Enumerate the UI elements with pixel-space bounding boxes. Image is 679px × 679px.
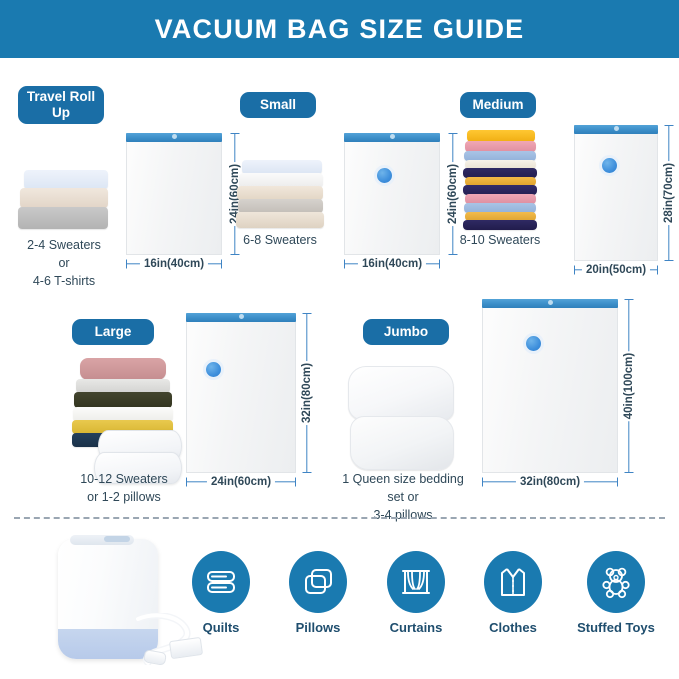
size-badge-small: Small	[240, 92, 316, 118]
stack-layer	[237, 186, 323, 200]
dimension-width-jumbo: 32in(80cm)	[482, 476, 618, 488]
use-case-stuffed-toys[interactable]: Stuffed Toys	[568, 551, 664, 635]
bedding-roll-jumbo	[348, 366, 452, 470]
dimension-width-label: 32in(80cm)	[516, 476, 584, 488]
bag-travel-roll-up	[126, 133, 222, 255]
dimension-width-travel-roll-up: 16in(40cm)	[126, 258, 222, 270]
size-badge-large: Large	[72, 319, 154, 345]
capacity-caption-small: 6-8 Sweaters	[228, 231, 332, 249]
use-case-label: Quilts	[186, 620, 256, 635]
capacity-caption-medium: 8-10 Sweaters	[448, 231, 552, 249]
bedding-roll-top	[348, 366, 454, 420]
pump-vent-slot	[104, 536, 130, 542]
dimension-height-medium: 28in(70cm)	[662, 125, 676, 261]
stack-layer	[18, 207, 108, 229]
size-badge-travel-roll-up: Travel Roll Up	[18, 86, 104, 124]
shirt-icon	[484, 551, 542, 613]
stack-layer	[74, 392, 172, 408]
stack-layer	[238, 199, 323, 213]
page-header: VACUUM BAG SIZE GUIDE	[0, 0, 679, 58]
bag-zipper	[126, 133, 222, 142]
dimension-width-label: 16in(40cm)	[358, 258, 426, 270]
bedding-roll-bottom	[350, 416, 454, 470]
bag-zipper	[574, 125, 658, 134]
capacity-caption-large: 10-12 Sweaters or 1-2 pillows	[54, 470, 194, 506]
stack-layer	[80, 358, 166, 380]
bag-valve	[377, 168, 392, 183]
clothes-stack-medium	[462, 130, 538, 230]
use-case-label: Pillows	[283, 620, 353, 635]
bag-valve	[526, 336, 541, 351]
dimension-height-label: 28in(70cm)	[660, 161, 678, 225]
bag-zipper	[344, 133, 440, 142]
bag-medium	[574, 125, 658, 261]
size-badge-medium: Medium	[460, 92, 536, 118]
use-case-pillows[interactable]: Pillows	[283, 551, 353, 635]
section-divider	[14, 517, 665, 519]
use-case-label: Clothes	[478, 620, 548, 635]
page-title: VACUUM BAG SIZE GUIDE	[155, 14, 525, 45]
bag-large	[186, 313, 296, 473]
use-case-curtains[interactable]: Curtains	[378, 551, 454, 635]
bag-small	[344, 133, 440, 255]
bag-zipper	[186, 313, 296, 322]
bag-body	[126, 133, 222, 255]
stack-layer	[20, 188, 108, 208]
clothes-stack-small	[236, 160, 324, 230]
dimension-height-label: 32in(80cm)	[298, 361, 316, 425]
dimension-width-large: 24in(60cm)	[186, 476, 296, 488]
dimension-width-small: 16in(40cm)	[344, 258, 440, 270]
bag-body	[186, 313, 296, 473]
dimension-height-label: 40in(100cm)	[620, 351, 638, 421]
use-case-label: Stuffed Toys	[568, 620, 664, 635]
stack-layer	[76, 379, 170, 393]
bag-body	[574, 125, 658, 261]
stack-layer	[239, 173, 323, 187]
bag-body	[482, 299, 618, 473]
capacity-caption-travel-roll-up: 2-4 Sweaters or 4-6 T-shirts	[8, 236, 120, 290]
electric-vacuum-pump	[52, 531, 164, 667]
dimension-width-label: 24in(60cm)	[207, 476, 275, 488]
pillow-icon	[289, 551, 347, 613]
bag-body	[344, 133, 440, 255]
curtain-icon	[387, 551, 445, 613]
use-case-label: Curtains	[378, 620, 454, 635]
stack-layer	[242, 160, 322, 174]
bag-zipper	[482, 299, 618, 308]
clothes-stack-travel-roll-up	[18, 170, 110, 230]
use-case-clothes[interactable]: Clothes	[478, 551, 548, 635]
stack-layer	[236, 212, 324, 228]
size-badge-jumbo: Jumbo	[363, 319, 449, 345]
dimension-width-label: 16in(40cm)	[140, 258, 208, 270]
quilt-icon	[192, 551, 250, 613]
dimension-height-label: 24in(60cm)	[444, 162, 462, 226]
bag-valve	[206, 362, 221, 377]
dimension-height-jumbo: 40in(100cm)	[622, 299, 636, 473]
stack-layer	[24, 170, 108, 189]
use-case-quilts[interactable]: Quilts	[186, 551, 256, 635]
bag-valve	[602, 158, 617, 173]
dimension-width-label: 20in(50cm)	[582, 264, 650, 276]
dimension-width-medium: 20in(50cm)	[574, 264, 658, 276]
dimension-height-large: 32in(80cm)	[300, 313, 314, 473]
bag-jumbo	[482, 299, 618, 473]
clothes-stack-large	[66, 358, 180, 470]
teddy-bear-icon	[587, 551, 645, 613]
stack-layer	[463, 220, 537, 230]
stack-layer	[73, 407, 173, 421]
